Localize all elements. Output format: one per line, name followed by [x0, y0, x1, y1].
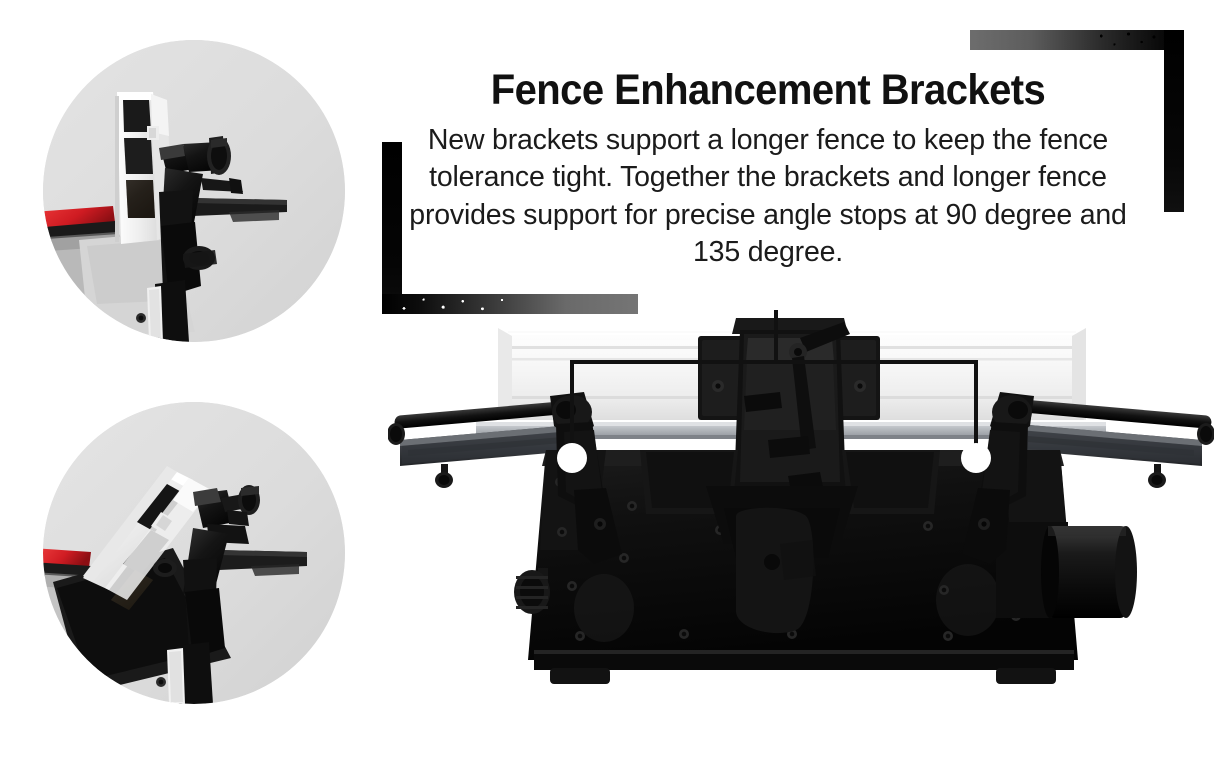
product-photo-benchtop-jointer	[388, 300, 1214, 720]
headline-block: Fence Enhancement Brackets New brackets …	[398, 68, 1138, 272]
infographic-canvas: Fence Enhancement Brackets New brackets …	[0, 0, 1214, 759]
inset-photo-fence-bracket-135	[43, 402, 345, 704]
corner-bracket-top-right-vertical-arm	[1164, 30, 1184, 212]
inset-photo-fence-bracket-90	[43, 40, 345, 342]
page-description: New brackets support a longer fence to k…	[398, 122, 1138, 272]
page-title: Fence Enhancement Brackets	[424, 68, 1112, 114]
